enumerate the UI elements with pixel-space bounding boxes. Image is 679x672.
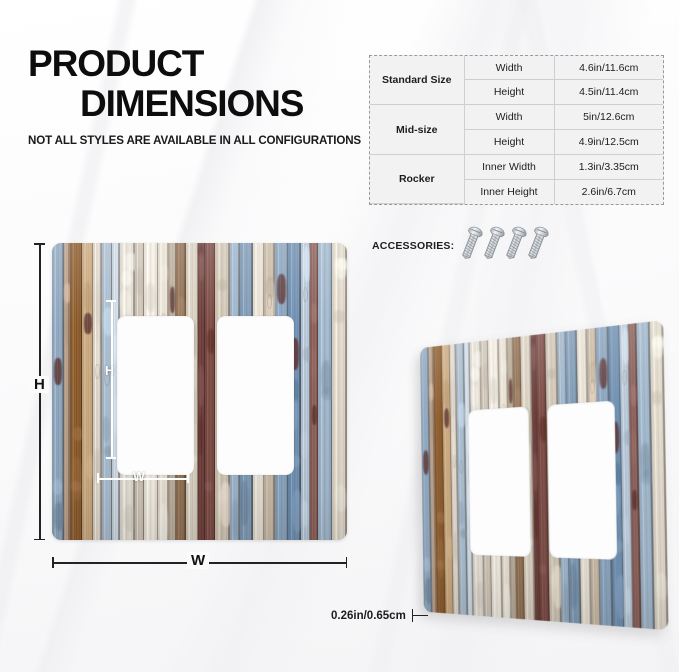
rocker-cutout-right xyxy=(217,316,294,475)
thickness-bracket-icon xyxy=(412,609,428,622)
wood-plank-texture xyxy=(52,243,347,540)
wood-plank xyxy=(608,325,624,627)
rocker-cutout-left xyxy=(117,316,194,475)
title-line-2: DIMENSIONS xyxy=(80,84,368,124)
wood-plank xyxy=(596,326,613,626)
wood-plank xyxy=(628,323,641,628)
outer-width-dimension: W xyxy=(52,556,347,570)
wood-plank xyxy=(318,243,332,540)
spec-attribute-cell: Height xyxy=(464,80,554,105)
wood-plank xyxy=(93,243,101,540)
spec-attribute-cell: Inner Height xyxy=(464,180,554,204)
title-line-1: PRODUCT xyxy=(28,44,368,84)
wood-plank xyxy=(636,322,654,629)
wood-plank xyxy=(587,328,601,625)
spec-attribute-cell: Width xyxy=(464,105,554,130)
accessories-section: ACCESSORIES: xyxy=(372,226,545,265)
wood-plank-texture-angled xyxy=(420,320,668,630)
table-row: RockerInner Width1.3in/3.35cm xyxy=(370,155,663,180)
page-title: PRODUCT DIMENSIONS NOT ALL STYLES ARE AV… xyxy=(28,44,368,147)
spec-attribute-cell: Inner Width xyxy=(464,155,554,180)
wood-plank xyxy=(619,324,633,627)
spec-attribute-cell: Width xyxy=(464,56,554,80)
spec-category-cell: Mid-size xyxy=(370,105,464,155)
wood-plank xyxy=(566,330,582,624)
outer-height-label: H xyxy=(30,376,49,393)
wood-plank xyxy=(52,243,64,540)
rocker-cutout-left-angled xyxy=(468,407,530,558)
wall-plate-front-view xyxy=(52,243,347,540)
wood-plank xyxy=(536,334,550,621)
spec-category-cell: Standard Size xyxy=(370,56,464,105)
spec-attribute-cell: Height xyxy=(464,130,554,155)
inner-height-label: H xyxy=(105,364,114,378)
wood-plank xyxy=(82,243,93,540)
spec-value-cell: 4.9in/12.5cm xyxy=(554,130,663,155)
outer-width-label: W xyxy=(187,552,209,569)
title-subtitle: NOT ALL STYLES ARE AVAILABLE IN ALL CONF… xyxy=(28,134,368,147)
table-row: Mid-sizeWidth5in/12.6cm xyxy=(370,105,663,130)
inner-height-dimension: H xyxy=(105,300,119,459)
screw-icon-group xyxy=(462,226,545,265)
spec-category-cell: Rocker xyxy=(370,155,464,204)
outer-height-dimension: H xyxy=(33,243,47,540)
specification-table: Standard SizeWidth4.6in/11.6cmHeight4.5i… xyxy=(369,55,664,205)
spec-value-cell: 2.6in/6.7cm xyxy=(554,180,663,204)
thickness-label: 0.26in/0.65cm xyxy=(331,610,406,622)
accessories-label: ACCESSORIES: xyxy=(372,240,454,252)
wood-plank xyxy=(557,331,570,622)
wood-plank xyxy=(545,332,561,622)
inner-width-label: W xyxy=(133,470,145,484)
thickness-callout: 0.26in/0.65cm xyxy=(331,609,428,622)
wood-plank xyxy=(70,243,83,540)
spec-value-cell: 5in/12.6cm xyxy=(554,105,663,130)
spec-value-cell: 1.3in/3.35cm xyxy=(554,155,663,180)
rocker-cutout-right-angled xyxy=(548,401,618,560)
wood-plank xyxy=(332,243,346,540)
wood-plank xyxy=(301,243,311,540)
wood-plank xyxy=(577,329,592,624)
wall-plate-angled-view xyxy=(398,335,670,620)
spec-value-cell: 4.6in/11.6cm xyxy=(554,56,663,80)
wood-plank xyxy=(649,320,668,630)
inner-width-dimension: W xyxy=(97,472,189,486)
wood-plank xyxy=(205,243,216,540)
wood-plank xyxy=(310,243,318,540)
spec-value-cell: 4.5in/11.4cm xyxy=(554,80,663,105)
table-row: Standard SizeWidth4.6in/11.6cm xyxy=(370,56,663,80)
